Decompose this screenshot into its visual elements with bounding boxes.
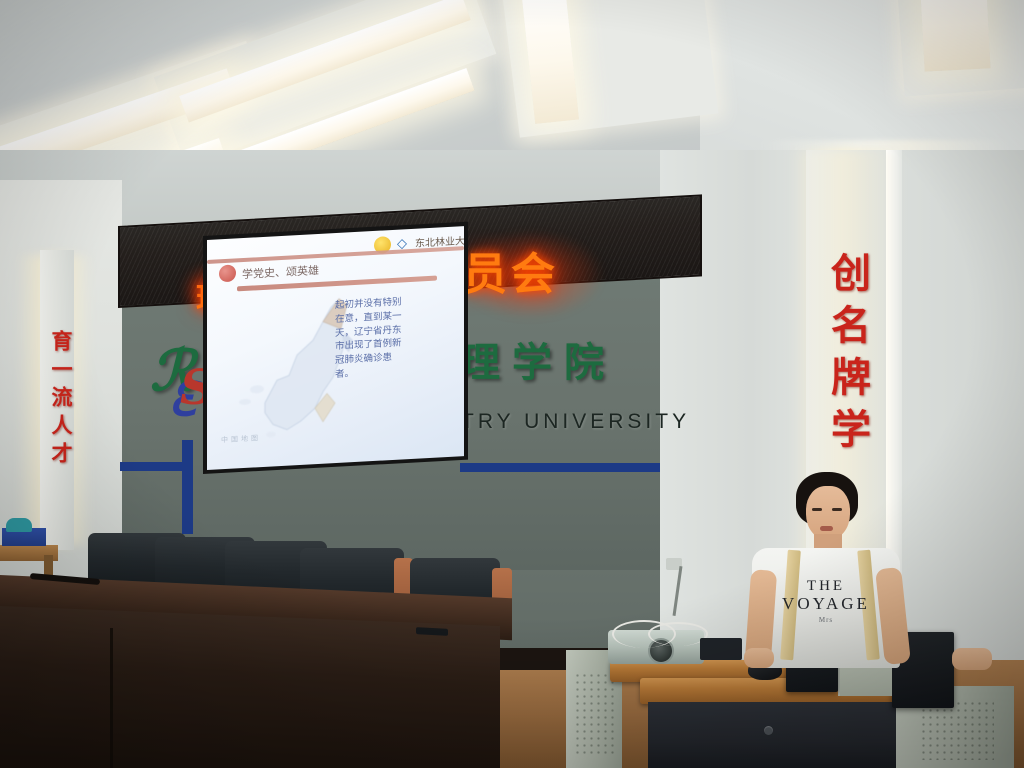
left-pillar-slogan: 育一流人才 bbox=[46, 330, 76, 540]
device-on-podium bbox=[700, 638, 742, 660]
right-wall-recess bbox=[902, 150, 1024, 710]
slide-header-badge-icon bbox=[219, 264, 236, 282]
slide-body-text: 起初并没有特别在意，直到某一天，辽宁省丹东市出现了首例新冠肺炎确诊患者。 bbox=[335, 295, 407, 381]
led-banner-text: 员会 bbox=[463, 238, 559, 302]
teal-bag bbox=[6, 518, 32, 532]
presenter-eye-right bbox=[832, 508, 842, 511]
presenter-hand-on-mouse bbox=[744, 648, 774, 668]
wall-blue-stripe-right bbox=[460, 463, 660, 472]
institution-name-cn: 理学院 bbox=[460, 330, 616, 388]
podium-lock-icon bbox=[764, 726, 773, 735]
presenter-eye-left bbox=[812, 508, 822, 511]
presenter-face bbox=[806, 486, 850, 540]
shirt-text-line-2: VOYAGE bbox=[776, 594, 876, 614]
recessed-linear-ceiling-light-6 bbox=[919, 0, 990, 72]
shirt-text-line-3: Mrs bbox=[796, 616, 856, 624]
podium-left-speaker-grille bbox=[574, 672, 614, 756]
slide-rule-top bbox=[207, 246, 464, 264]
podium-front-panel bbox=[648, 702, 910, 768]
wall-blue-vertical-stripe bbox=[182, 440, 193, 534]
table-front-panel-seam bbox=[110, 628, 113, 768]
wall-blue-stripe-left bbox=[120, 462, 186, 471]
slide-header-title: 学党史、颂英雄 bbox=[242, 262, 319, 282]
podium-right-speaker-grille bbox=[920, 700, 994, 760]
projector-cable-2 bbox=[648, 622, 708, 646]
institution-name-en: STRY UNIVERSITY bbox=[443, 410, 690, 434]
lecture-hall-photo: 育一流人才 创名牌学 ℛ ℇ S 理学院 STRY UNIVERSITY 员会 … bbox=[0, 0, 1024, 768]
presenter-mouth bbox=[820, 526, 833, 531]
projection-screen: ◇ 东北林业大学 学党史、颂英雄 起初并没有特别在意，直到某一天，辽宁省丹东市出… bbox=[207, 226, 464, 470]
shirt-text-line-1: THE bbox=[786, 578, 866, 595]
presenter-hand-right bbox=[952, 648, 992, 670]
